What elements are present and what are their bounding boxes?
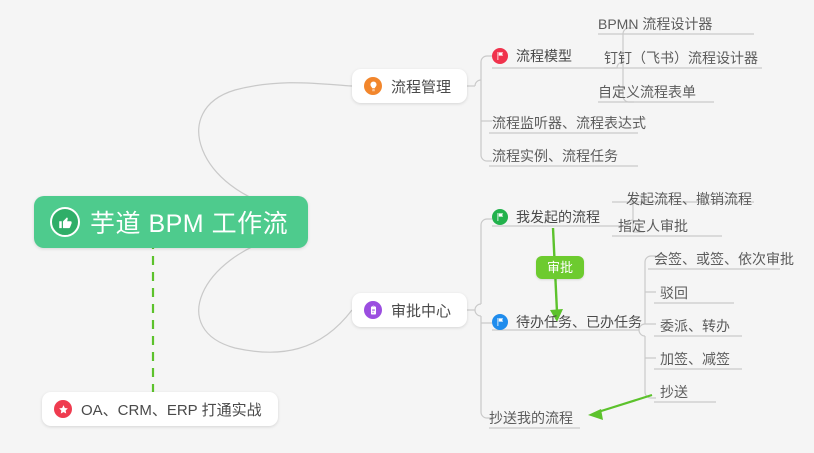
approval-badge[interactable]: 审批 — [536, 256, 584, 279]
root-label: 芋道 BPM 工作流 — [90, 204, 288, 240]
footnote-label: OA、CRM、ERP 打通实战 — [81, 399, 262, 420]
branch-node-approval-center[interactable]: 审批中心 — [352, 293, 467, 327]
leaf-delegate-transfer[interactable]: 委派、转办 — [660, 313, 730, 339]
leaf-label-dingtalk-feishu-designer: 钉钉（飞书）流程设计器 — [604, 48, 758, 68]
leaf-label-assignee-approval: 指定人审批 — [618, 216, 688, 236]
star-icon — [54, 400, 72, 418]
wire-todo-to-cc — [645, 392, 656, 398]
leaf-reject[interactable]: 驳回 — [660, 280, 688, 306]
leaf-label-delegate-transfer: 委派、转办 — [660, 316, 730, 336]
flag-blue-icon — [492, 314, 508, 330]
node-my-initiated[interactable]: 我发起的流程 — [492, 204, 600, 230]
mindmap-canvas: 芋道 BPM 工作流 OA、CRM、ERP 打通实战 流程管理 流程模型 BPM… — [0, 0, 814, 453]
leaf-dingtalk-feishu-designer[interactable]: 钉钉（飞书）流程设计器 — [604, 45, 758, 71]
leaf-label-start-cancel: 发起流程、撤销流程 — [626, 189, 752, 209]
lightbulb-icon — [364, 77, 382, 95]
leaf-label-cc-to-me: 抄送我的流程 — [489, 408, 573, 428]
leaf-cc-to-me[interactable]: 抄送我的流程 — [489, 405, 573, 431]
wire-pm-corner-top — [475, 80, 481, 86]
wire-ac-corner-b — [475, 310, 481, 316]
wire-root-to-approval-center — [199, 236, 352, 352]
wire-pm-to-instance — [481, 155, 492, 161]
branch-label-approval-center: 审批中心 — [391, 300, 451, 321]
branch-label-process-management: 流程管理 — [391, 76, 451, 97]
footnote-node[interactable]: OA、CRM、ERP 打通实战 — [42, 392, 278, 426]
leaf-label-process-instance: 流程实例、流程任务 — [492, 146, 618, 166]
wire-pm-to-model — [481, 56, 492, 62]
leaf-process-listener[interactable]: 流程监听器、流程表达式 — [492, 110, 646, 136]
branch-node-process-management[interactable]: 流程管理 — [352, 69, 467, 103]
root-node[interactable]: 芋道 BPM 工作流 — [34, 196, 308, 248]
clipboard-icon — [364, 301, 382, 319]
leaf-bpmn-designer[interactable]: BPMN 流程设计器 — [598, 11, 712, 37]
wire-ac-to-initiated — [481, 219, 492, 225]
label-my-initiated: 我发起的流程 — [516, 207, 600, 227]
thumbs-up-icon — [50, 207, 80, 237]
label-process-model: 流程模型 — [516, 46, 572, 66]
leaf-label-custom-process-form: 自定义流程表单 — [598, 82, 696, 102]
leaf-start-cancel[interactable]: 发起流程、撤销流程 — [626, 186, 752, 212]
arrow-cc-to-ccme — [588, 395, 652, 420]
node-process-model[interactable]: 流程模型 — [492, 43, 572, 69]
leaf-label-countersign: 会签、或签、依次审批 — [654, 249, 794, 269]
leaf-label-add-remove-sign: 加签、减签 — [660, 349, 730, 369]
leaf-label-cc: 抄送 — [660, 382, 688, 402]
leaf-add-remove-sign[interactable]: 加签、减签 — [660, 346, 730, 372]
leaf-process-instance[interactable]: 流程实例、流程任务 — [492, 143, 618, 169]
flag-green-icon — [492, 209, 508, 225]
flag-red-icon — [492, 48, 508, 64]
leaf-label-bpmn-designer: BPMN 流程设计器 — [598, 14, 712, 34]
wire-ac-corner-a — [475, 304, 481, 310]
leaf-label-reject: 驳回 — [660, 283, 688, 303]
leaf-label-process-listener: 流程监听器、流程表达式 — [492, 113, 646, 133]
leaf-custom-process-form[interactable]: 自定义流程表单 — [598, 79, 696, 105]
node-todo-done-tasks[interactable]: 待办任务、已办任务 — [492, 309, 642, 335]
leaf-assignee-approval[interactable]: 指定人审批 — [618, 213, 688, 239]
leaf-cc[interactable]: 抄送 — [660, 379, 688, 405]
wire-root-to-process-management — [199, 83, 352, 208]
leaf-countersign[interactable]: 会签、或签、依次审批 — [654, 246, 794, 272]
label-todo-done-tasks: 待办任务、已办任务 — [516, 312, 642, 332]
